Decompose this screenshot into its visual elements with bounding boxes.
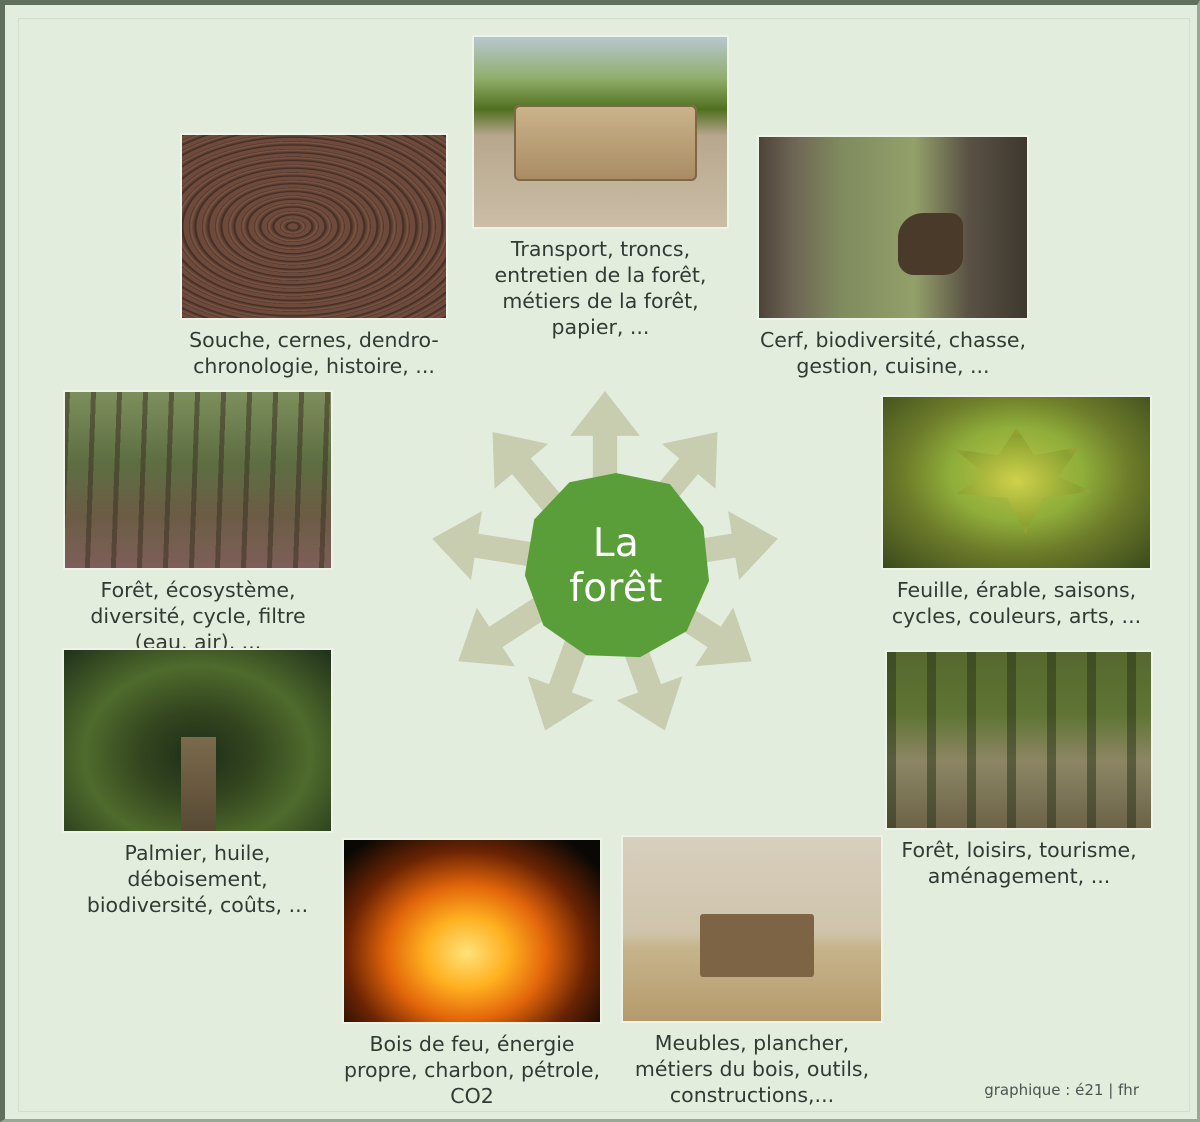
logging-truck-photo xyxy=(472,35,729,229)
branch-caption-leaf: Feuille, érable, saisons, cycles, couleu… xyxy=(881,577,1152,629)
branch-card-woodwork: Meubles, plancher, métiers du bois, outi… xyxy=(621,835,883,1108)
branch-caption-ecosystem: Forêt, écosystème, diversité, cycle, fil… xyxy=(63,577,333,655)
branch-caption-deer: Cerf, biodiversité, chasse, gestion, cui… xyxy=(757,327,1029,379)
maple-leaf-photo xyxy=(881,395,1152,570)
branch-caption-tourism: Forêt, loisirs, tourisme, aménagement, .… xyxy=(885,837,1153,889)
branch-card-palm: Palmier, huile, déboisement, biodiversit… xyxy=(62,648,333,918)
center-line-2: forêt xyxy=(569,566,663,611)
forest-path-walkers-photo xyxy=(885,650,1153,830)
branch-caption-fire: Bois de feu, énergie propre, charbon, pé… xyxy=(342,1031,602,1109)
branch-card-ecosystem: Forêt, écosystème, diversité, cycle, fil… xyxy=(63,390,333,655)
branch-caption-woodwork: Meubles, plancher, métiers du bois, outi… xyxy=(621,1030,883,1108)
center-line-1: La xyxy=(593,521,639,566)
carpentry-workshop-photo xyxy=(621,835,883,1023)
branch-card-stump: Souche, cernes, dendro-chronologie, hist… xyxy=(180,133,448,379)
credit-line: graphique : é21 | fhr xyxy=(984,1081,1139,1099)
branch-card-fire: Bois de feu, énergie propre, charbon, pé… xyxy=(342,838,602,1109)
forest-mindmap-poster: Laforêt Transport, troncs, entretien de … xyxy=(0,0,1200,1122)
branch-card-deer: Cerf, biodiversité, chasse, gestion, cui… xyxy=(757,135,1029,379)
branch-caption-stump: Souche, cernes, dendro-chronologie, hist… xyxy=(180,327,448,379)
branch-card-leaf: Feuille, érable, saisons, cycles, couleu… xyxy=(881,395,1152,629)
forest-understory-photo xyxy=(63,390,333,570)
branch-caption-palm: Palmier, huile, déboisement, biodiversit… xyxy=(62,840,333,918)
branch-card-truck: Transport, troncs, entretien de la forêt… xyxy=(472,35,729,340)
center-node-label: Laforêt xyxy=(569,521,663,611)
wood-fire-photo xyxy=(342,838,602,1024)
branch-card-tourism: Forêt, loisirs, tourisme, aménagement, .… xyxy=(885,650,1153,889)
branch-caption-truck: Transport, troncs, entretien de la forêt… xyxy=(472,236,729,340)
stag-deer-photo xyxy=(757,135,1029,320)
palm-tree-photo xyxy=(62,648,333,833)
tree-stump-photo xyxy=(180,133,448,320)
